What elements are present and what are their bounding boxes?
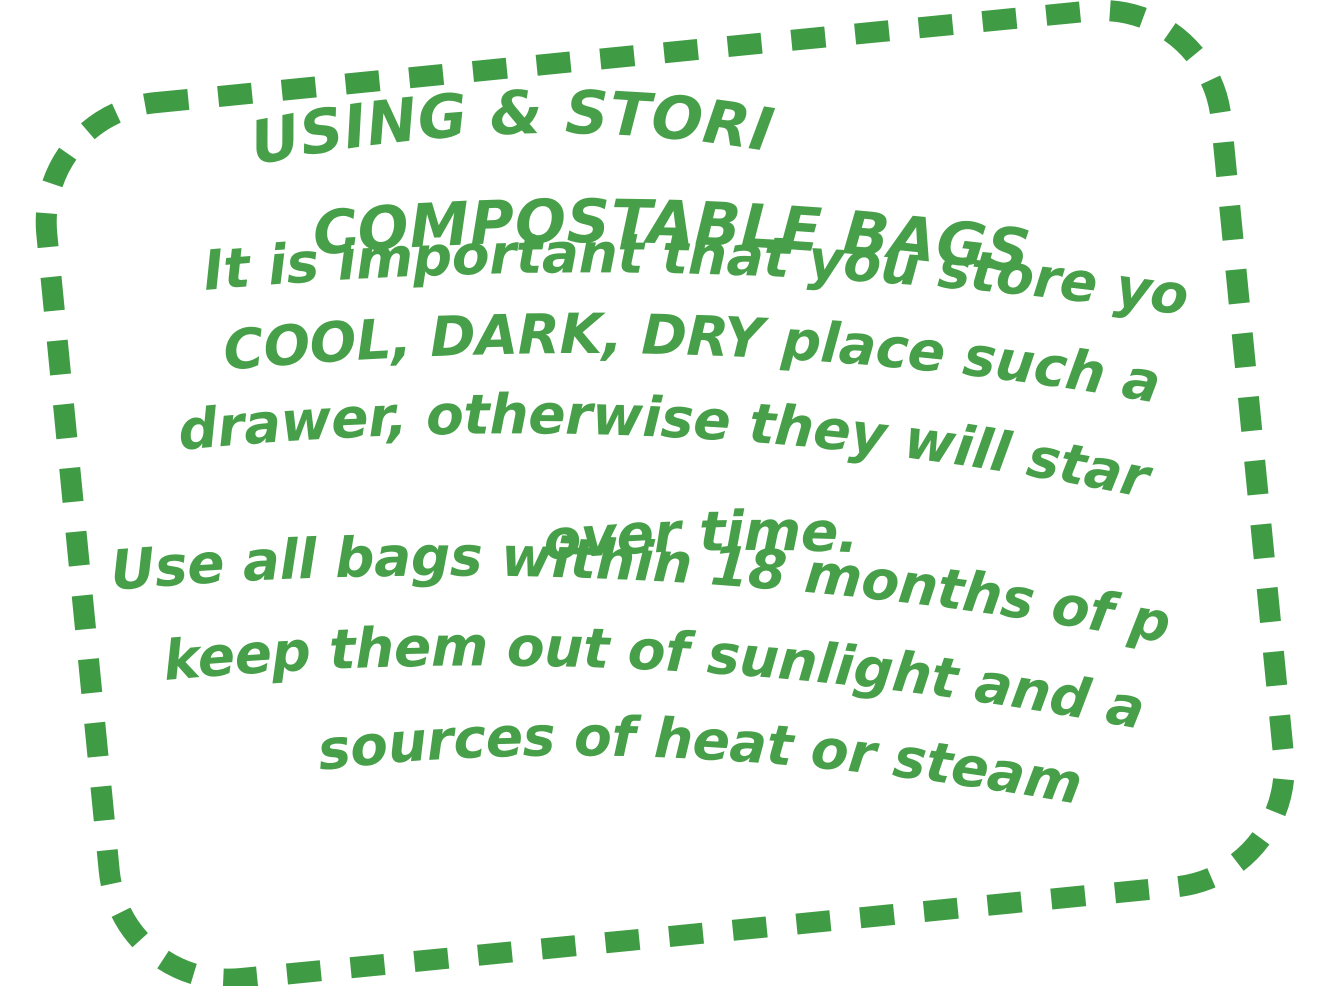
paragraph-1-line-2-path: COOL, DARK, DRY place such as a kitchen [0,0,1165,416]
label-text-block: USING & STORING COMPOSTABLE BAGS It is i… [0,0,1326,986]
body-block: It is important that you store your bags… [0,0,1326,986]
paragraph-1-line-1: It is important that you store your bags… [0,0,1192,328]
compostable-bags-care-label: USING & STORING COMPOSTABLE BAGS It is i… [0,0,1326,986]
paragraph-1-line-2: COOL, DARK, DRY place such as a kitchen [0,0,1165,416]
paragraph-1-line-1-path: It is important that you store your bags… [0,0,1192,328]
